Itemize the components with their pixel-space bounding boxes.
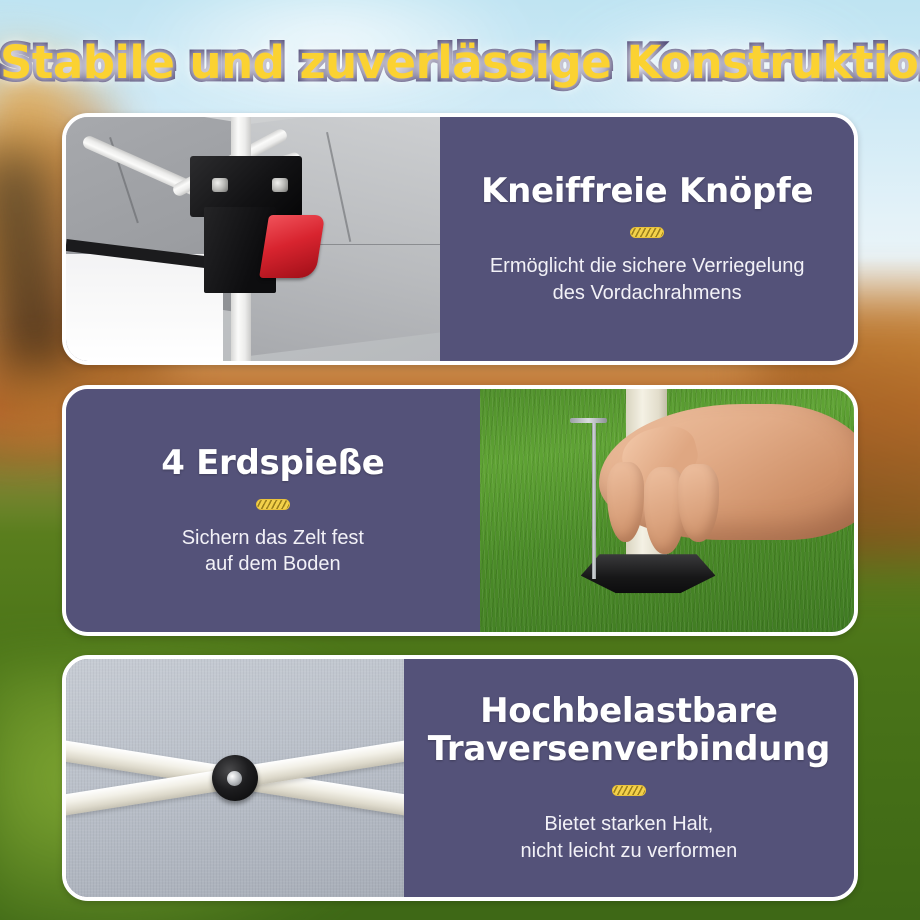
- feature-title-line: Hochbelastbare: [480, 691, 778, 731]
- page-title: Stabile und zuverlässige Konstruktion: [0, 36, 920, 89]
- feature-panel: Hochbelastbare Traversenverbindung Biete…: [404, 659, 854, 897]
- feature-card-hochbelastbare-traversenverbindung: Hochbelastbare Traversenverbindung Biete…: [62, 655, 858, 901]
- feature-panel: 4 Erdspieße Sichern das Zelt fest auf de…: [66, 389, 480, 632]
- ground-stake: [592, 418, 596, 578]
- tent-foot-plate: [581, 554, 716, 593]
- ornament-divider-icon: [256, 499, 290, 510]
- photo-gazebo-corner-joint: [66, 117, 440, 361]
- bolt-icon: [212, 178, 228, 192]
- feature-title-line: Traversenverbindung: [428, 729, 830, 769]
- ornament-divider-icon: [630, 227, 664, 238]
- feature-description-line: des Vordachrahmens: [553, 282, 742, 304]
- bolt-icon: [272, 178, 288, 192]
- hub-connector: [212, 755, 258, 801]
- feature-title: Kneiffreie Knöpfe: [481, 172, 813, 210]
- feature-panel: Kneiffreie Knöpfe Ermöglicht die sichere…: [440, 117, 854, 361]
- feature-description-line: nicht leicht zu verformen: [521, 840, 738, 862]
- feature-title: 4 Erdspieße: [161, 444, 384, 482]
- feature-description-line: Bietet starken Halt,: [544, 813, 713, 835]
- photo-cross-brace-hub: [66, 659, 404, 897]
- photo-hand-with-ground-stake: [480, 389, 854, 632]
- feature-title: Hochbelastbare Traversenverbindung: [428, 692, 830, 768]
- feature-description-line: Sichern das Zelt fest: [182, 527, 364, 549]
- feature-card-kneiffreie-knoepfe: Kneiffreie Knöpfe Ermöglicht die sichere…: [62, 113, 858, 365]
- feature-description: Ermöglicht die sichere Verriegelung des …: [490, 253, 805, 306]
- ornament-divider-icon: [612, 785, 646, 796]
- feature-card-4-erdspiesse: 4 Erdspieße Sichern das Zelt fest auf de…: [62, 385, 858, 636]
- feature-description: Bietet starken Halt, nicht leicht zu ver…: [521, 811, 738, 864]
- feature-description-line: auf dem Boden: [205, 553, 341, 575]
- promo-banner: Stabile und zuverlässige Konstruktion Kn…: [0, 0, 920, 920]
- feature-description: Sichern das Zelt fest auf dem Boden: [182, 525, 364, 578]
- ground-stake-head: [570, 418, 607, 423]
- feature-description-line: Ermöglicht die sichere Verriegelung: [490, 255, 805, 277]
- photo-bright-area: [66, 254, 223, 361]
